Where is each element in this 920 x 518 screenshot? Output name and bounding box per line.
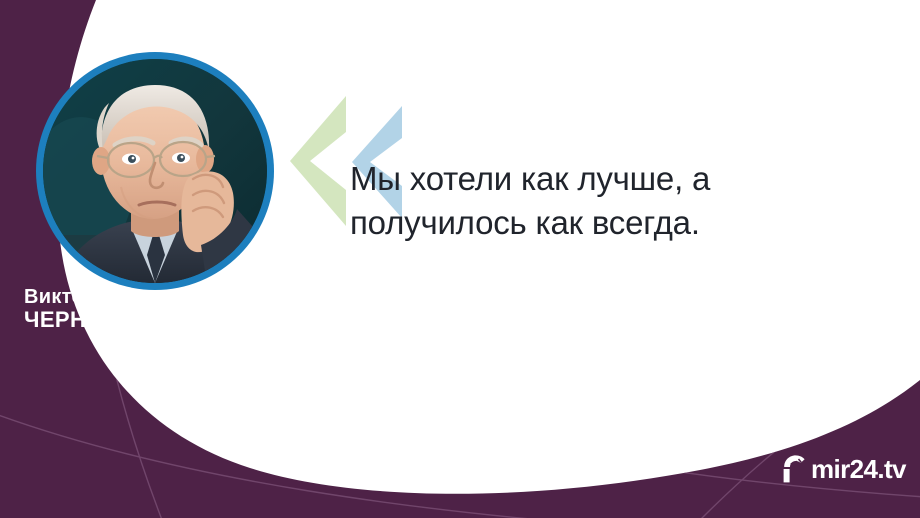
speaker-last-name: ЧЕРНОМЫРДИН [24,308,207,333]
quote-slide: Виктор ЧЕРНОМЫРДИН Мы хотели как лучше, … [0,0,920,518]
speaker-photo [43,59,267,283]
speaker-first-name: Виктор [24,286,207,308]
logo-text: mir24.tv [811,456,906,482]
chevron-left-green-icon [290,96,346,226]
quote-line-2: получилось как всегда. [350,201,830,245]
speaker-portrait-ring [36,52,274,290]
speaker-name-block: Виктор ЧЕРНОМЫРДИН [24,286,207,333]
speaker-portrait-frame [43,59,267,283]
mir24-logo: mir24.tv [781,452,906,486]
arc-mark-icon [781,454,809,484]
quote-line-1: Мы хотели как лучше, а [350,157,830,201]
quote-text: Мы хотели как лучше, а получилось как вс… [350,157,830,244]
